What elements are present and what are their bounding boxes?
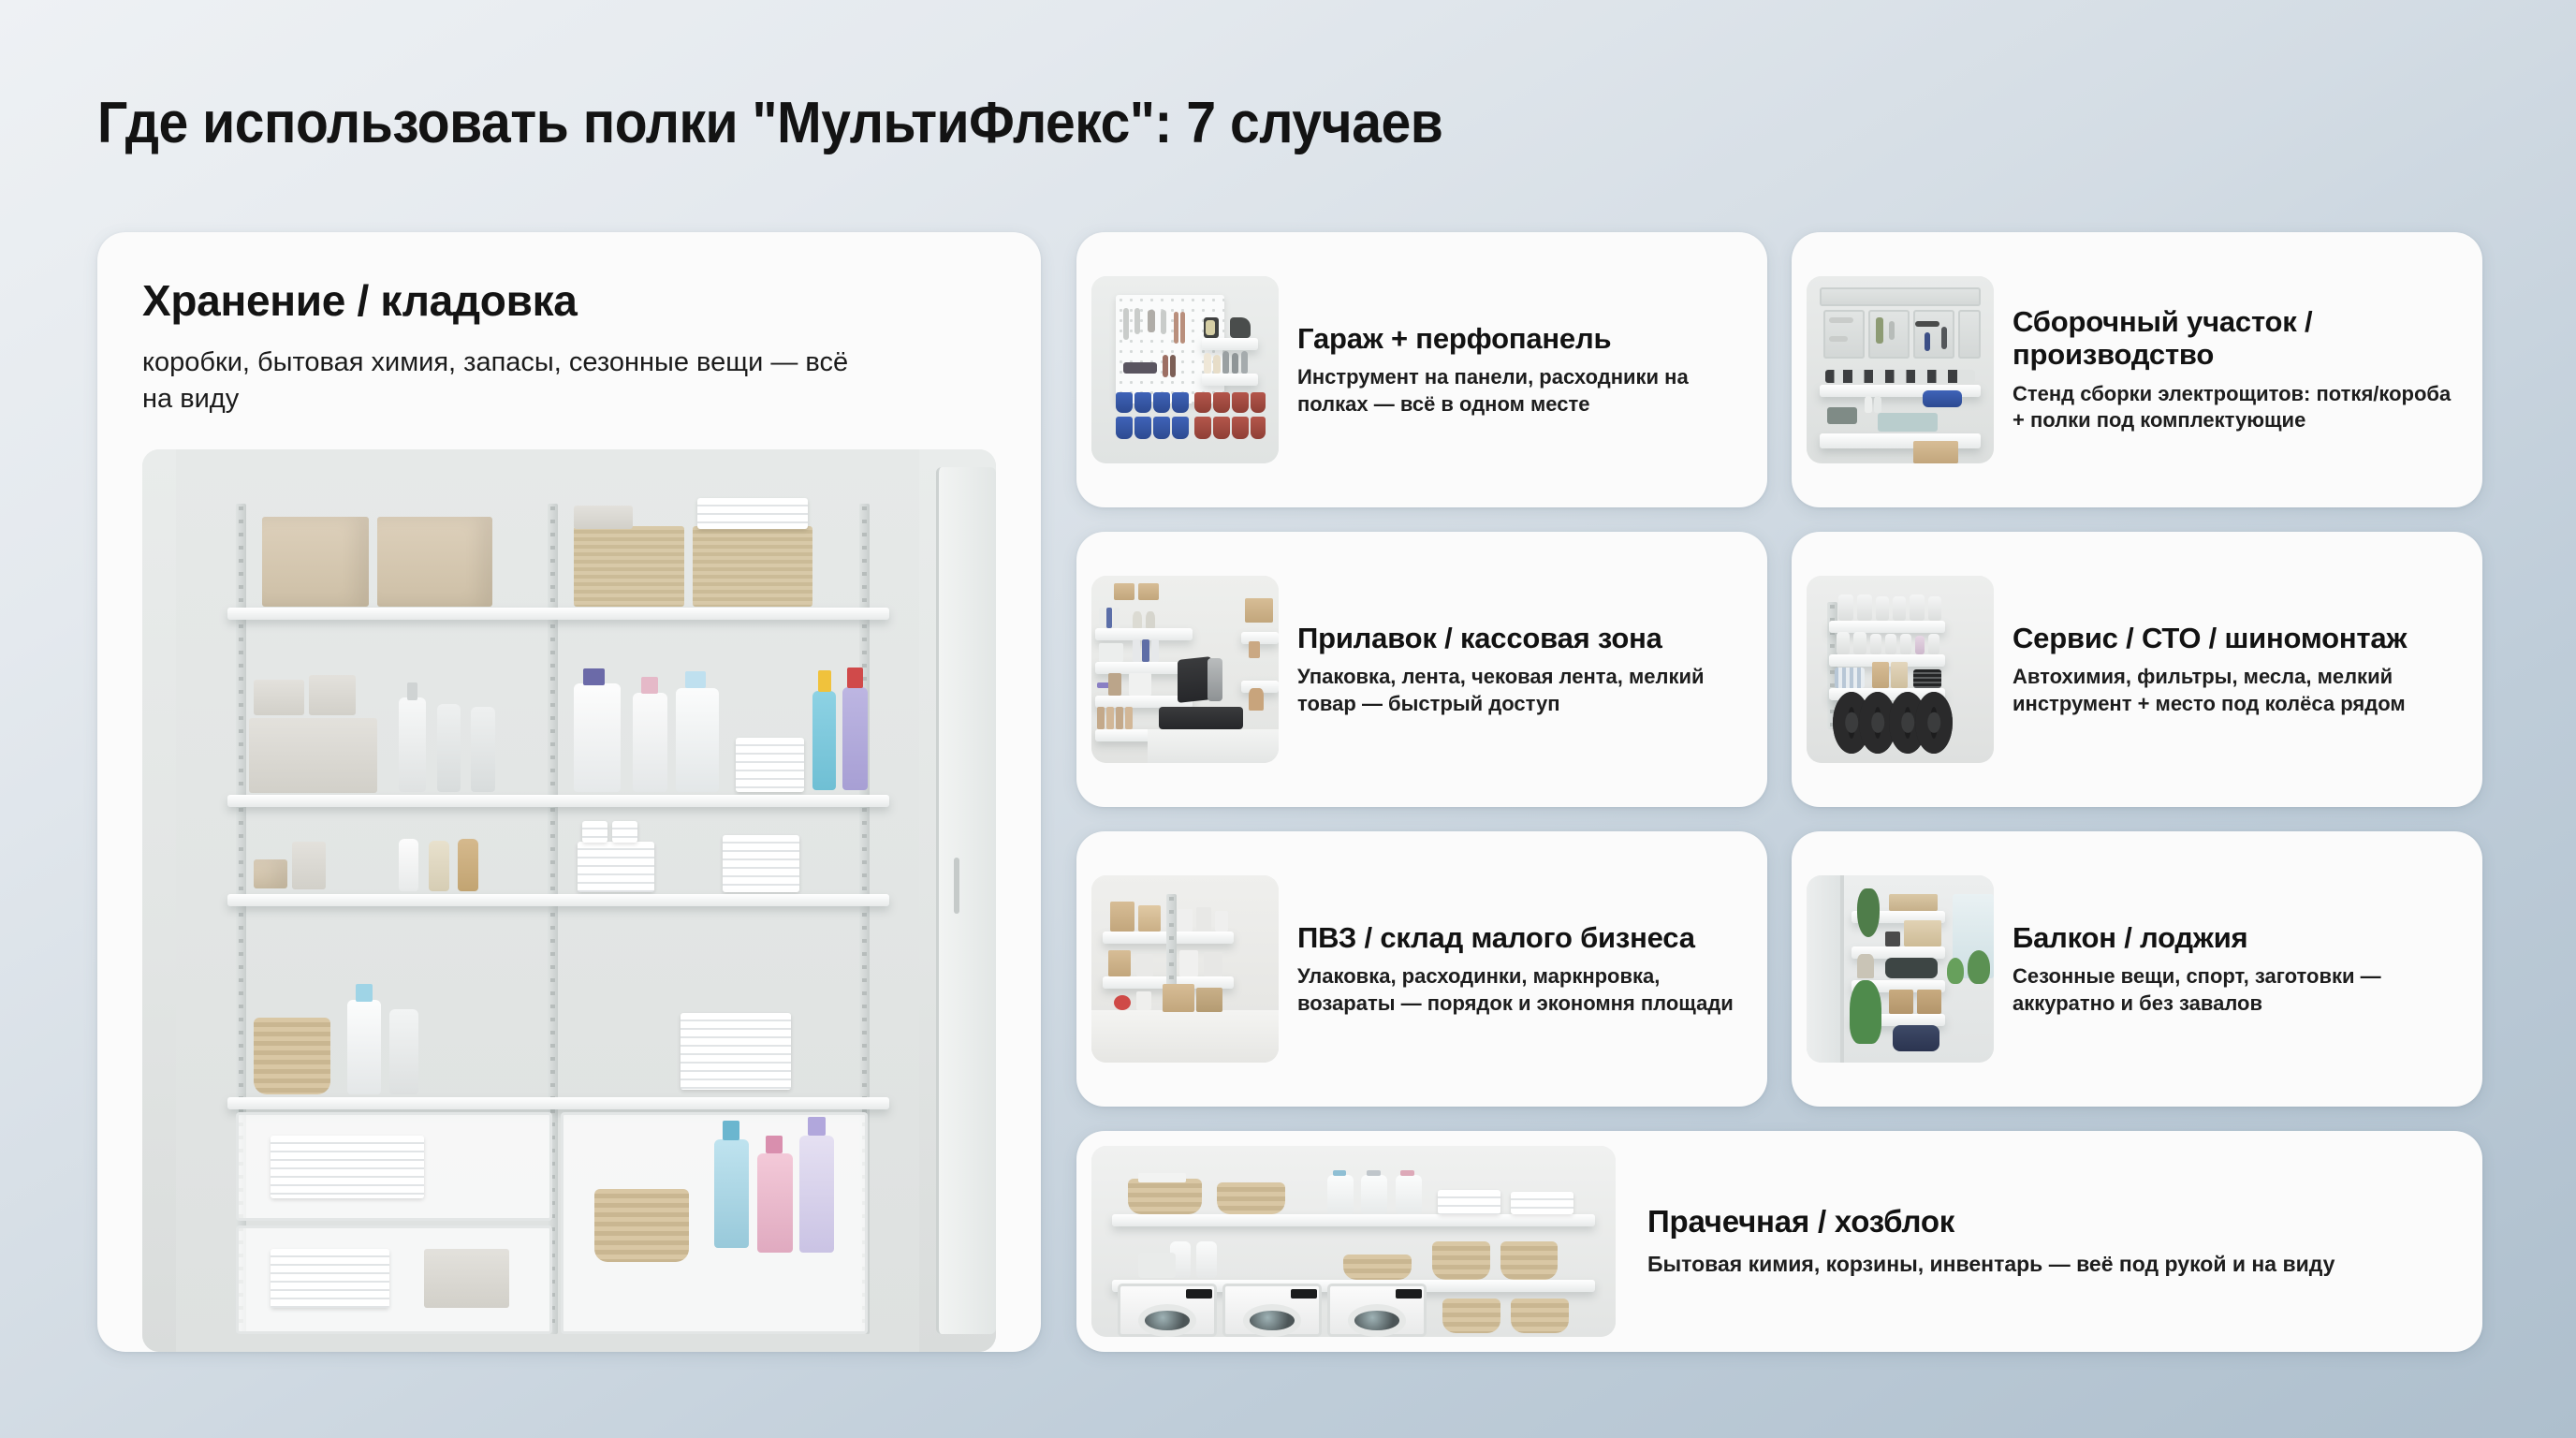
case-description: Автохимия, фильтры, месла, мелкий инстру… (2012, 664, 2462, 717)
case-text-garage: Гараж + перфопанель Инструмент на панели… (1297, 322, 1747, 418)
slide-root: Где использовать полки "МультиФлекс": 7 … (0, 0, 2576, 1438)
case-card-assembly[interactable]: Сборочный участок / производство Стенд с… (1792, 232, 2482, 507)
case-title: Гараж + перфопанель (1297, 322, 1747, 355)
case-card-garage[interactable]: Гараж + перфопанель Инструмент на панели… (1076, 232, 1767, 507)
case-text-balcony: Балкон / лоджия Сезонные вещи, спорт, за… (2012, 921, 2462, 1018)
case-description: Бытовая кимия, корзины, инвентарь — веё … (1647, 1251, 2458, 1279)
case-title: Прачечная / хозблок (1647, 1204, 2458, 1240)
case-card-balcony[interactable]: Балкон / лоджия Сезонные вещи, спорт, за… (1792, 831, 2482, 1107)
case-title: Прилавок / кассовая зона (1297, 622, 1747, 654)
cases-row-3: ПВЗ / склад малого бизнеса Улаковка, рас… (1076, 831, 2482, 1107)
checkout-counter-photo (1091, 576, 1279, 763)
page-title: Где использовать полки "МультиФлекс": 7 … (97, 90, 1442, 156)
laundry-room-photo (1091, 1146, 1616, 1337)
case-description: Стенд сборки электрощитов: поткя/короба … (2012, 381, 2462, 434)
tire-service-photo (1807, 576, 1994, 763)
pickup-point-photo (1091, 875, 1279, 1063)
case-description: Упаковка, лента, чековая лента, мелкий т… (1297, 664, 1747, 717)
hero-title: Хранение / кладовка (142, 275, 996, 326)
cases-row-1: Гараж + перфопанель Инструмент на панели… (1076, 232, 2482, 507)
case-card-counter[interactable]: Прилавок / кассовая зона Упаковка, лента… (1076, 532, 1767, 807)
case-text-counter: Прилавок / кассовая зона Упаковка, лента… (1297, 622, 1747, 718)
case-title: Сервис / СТО / шиномонтаж (2012, 622, 2462, 654)
cases-row-4: Прачечная / хозблок Бытовая кимия, корзи… (1076, 1131, 2482, 1352)
garage-pegboard-photo (1091, 276, 1279, 463)
case-card-service[interactable]: Сервис / СТО / шиномонтаж Автохимия, фил… (1792, 532, 2482, 807)
case-description: Улаковка, расходинки, маркнровка, возара… (1297, 963, 1747, 1017)
hero-column: Хранение / кладовка коробки, бытовая хим… (97, 232, 1041, 1352)
hero-card[interactable]: Хранение / кладовка коробки, бытовая хим… (97, 232, 1041, 1352)
case-card-laundry[interactable]: Прачечная / хозблок Бытовая кимия, корзи… (1076, 1131, 2482, 1352)
case-title: Балкон / лоджия (2012, 921, 2462, 954)
case-text-laundry: Прачечная / хозблок Бытовая кимия, корзи… (1647, 1204, 2458, 1279)
case-title: ПВЗ / склад малого бизнеса (1297, 921, 1747, 954)
case-title: Сборочный участок / производство (2012, 305, 2462, 372)
case-description: Инструмент на панели, расходники на полк… (1297, 364, 1747, 418)
pantry-shelving-photo (142, 449, 996, 1352)
case-description: Сезонные вещи, спорт, заготовки — аккура… (2012, 963, 2462, 1017)
case-text-service: Сервис / СТО / шиномонтаж Автохимия, фил… (2012, 622, 2462, 718)
case-text-pvz: ПВЗ / склад малого бизнеса Улаковка, рас… (1297, 921, 1747, 1018)
cases-column: Гараж + перфопанель Инструмент на панели… (1076, 232, 2482, 1352)
hero-subtitle: коробки, бытовая химия, запасы, сезонные… (142, 345, 854, 418)
content-board: Хранение / кладовка коробки, бытовая хим… (97, 232, 2482, 1352)
cases-row-2: Прилавок / кассовая зона Упаковка, лента… (1076, 532, 2482, 807)
case-card-pvz[interactable]: ПВЗ / склад малого бизнеса Улаковка, рас… (1076, 831, 1767, 1107)
assembly-workbench-photo (1807, 276, 1994, 463)
balcony-storage-photo (1807, 875, 1994, 1063)
case-text-assembly: Сборочный участок / производство Стенд с… (2012, 305, 2462, 434)
